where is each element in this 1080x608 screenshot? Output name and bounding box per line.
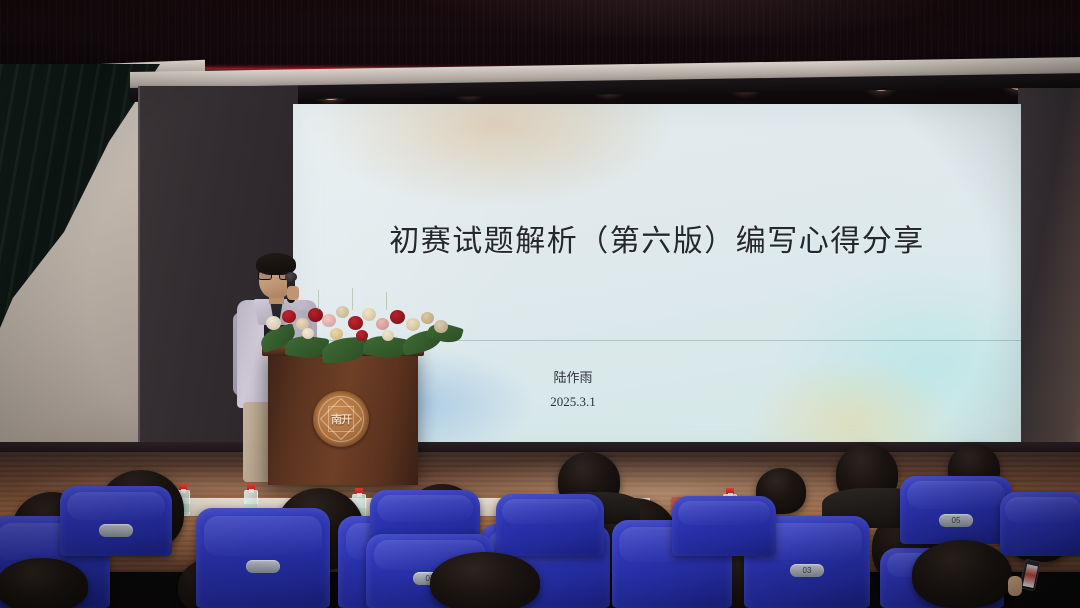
wall-panel-right-dark xyxy=(1018,88,1080,462)
auditorium-seat[interactable] xyxy=(196,508,330,608)
slide-title: 初赛试题解析（第六版）编写心得分享 xyxy=(293,216,1021,260)
seat-number: 05 xyxy=(952,516,961,525)
audience-head-foreground xyxy=(0,558,88,608)
seat-number-plate: 03 xyxy=(790,564,824,577)
seat-number-plate xyxy=(99,524,133,537)
seat-number-plate xyxy=(246,560,280,573)
auditorium-seat[interactable] xyxy=(496,494,604,556)
audience-head-foreground xyxy=(912,540,1012,608)
auditorium-seat[interactable] xyxy=(672,496,776,556)
smartphone-screen xyxy=(1023,564,1038,588)
audience-head-foreground xyxy=(430,552,540,608)
seat-number-plate: 05 xyxy=(939,514,973,527)
flower-arrangement xyxy=(256,288,466,360)
auditorium-seat[interactable] xyxy=(1000,492,1080,556)
nankai-university-emblem: 南开 xyxy=(313,391,369,447)
seat-number: 03 xyxy=(803,566,812,575)
audience-hand xyxy=(1008,576,1022,596)
auditorium-seat[interactable]: 05 xyxy=(900,476,1012,544)
microphone-head-icon xyxy=(285,272,297,282)
auditorium-scene: 初赛试题解析（第六版）编写心得分享 陆作雨 2025.3.1 南开 xyxy=(0,0,1080,608)
emblem-label: 南开 xyxy=(331,411,351,427)
auditorium-seat[interactable] xyxy=(60,486,172,556)
